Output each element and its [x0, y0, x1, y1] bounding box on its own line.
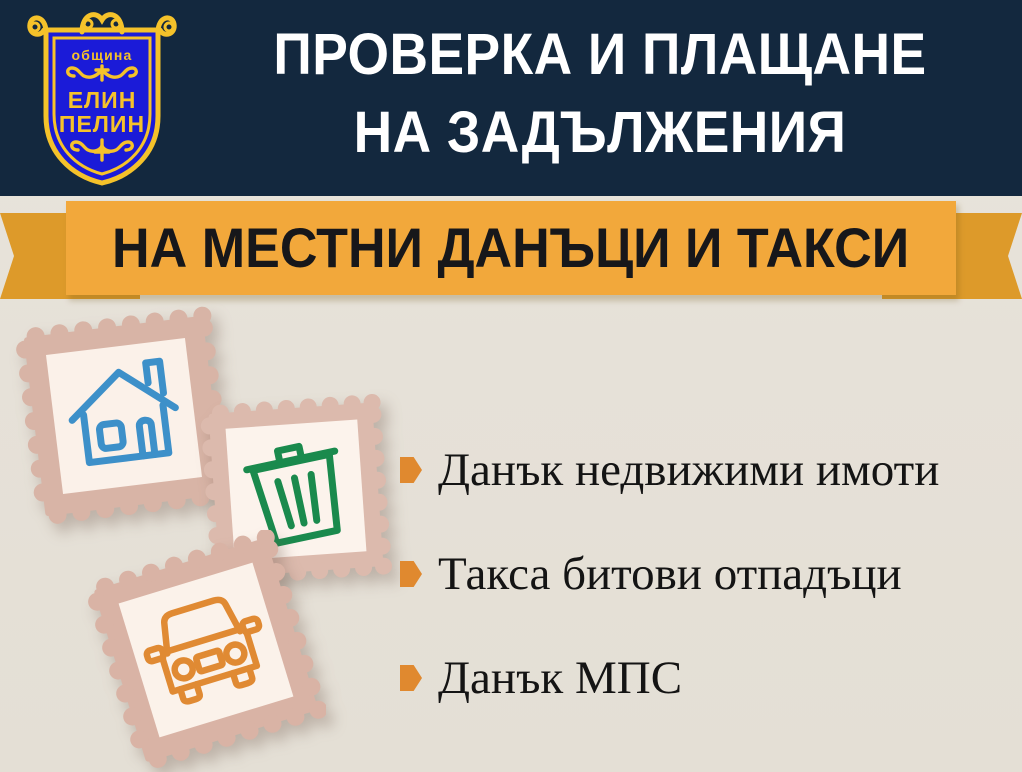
page-title: ПРОВЕРКА И ПЛАЩАНЕ НА ЗАДЪЛЖЕНИЯ	[223, 16, 977, 172]
stamp-card-group	[0, 296, 420, 766]
poster-root: ПРОВЕРКА И ПЛАЩАНЕ НА ЗАДЪЛЖЕНИЯ община	[0, 0, 1022, 772]
arrow-bullet-icon	[400, 561, 422, 587]
list-item[interactable]: Данък недвижими имоти	[400, 418, 1010, 522]
svg-text:община: община	[71, 47, 132, 63]
svg-text:ЕЛИН: ЕЛИН	[68, 87, 137, 113]
ribbon-banner: НА МЕСТНИ ДАНЪЦИ И ТАКСИ	[0, 199, 1022, 299]
list-item-label: Данък МПС	[438, 652, 682, 704]
svg-text:ПЕЛИН: ПЕЛИН	[59, 111, 145, 137]
arrow-bullet-icon	[400, 457, 422, 483]
tax-type-list: Данък недвижими имоти Такса битови отпад…	[400, 418, 1010, 730]
ribbon-body: НА МЕСТНИ ДАНЪЦИ И ТАКСИ	[66, 201, 956, 295]
list-item-label: Данък недвижими имоти	[438, 444, 939, 496]
ribbon-label: НА МЕСТНИ ДАНЪЦИ И ТАКСИ	[112, 220, 909, 276]
page-title-line-2: НА ЗАДЪЛЖЕНИЯ	[223, 94, 977, 172]
list-item[interactable]: Такса битови отпадъци	[400, 522, 1010, 626]
arrow-bullet-icon	[400, 665, 422, 691]
municipality-logo: община ЕЛИН ПЕЛИН	[22, 8, 182, 190]
list-item-label: Такса битови отпадъци	[438, 548, 902, 600]
page-title-line-1: ПРОВЕРКА И ПЛАЩАНЕ	[223, 16, 977, 94]
list-item[interactable]: Данък МПС	[400, 626, 1010, 730]
stamp-card-vehicle	[86, 530, 326, 770]
